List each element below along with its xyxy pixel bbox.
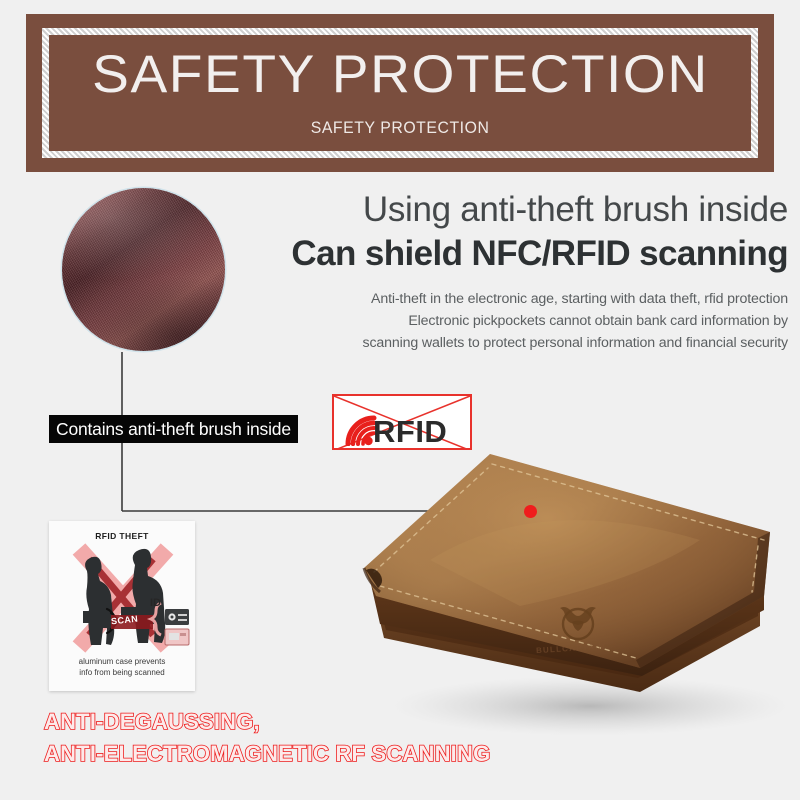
id-label: ID — [150, 597, 161, 609]
body-line-1: Anti-theft in the electronic age, starti… — [258, 288, 788, 310]
body-paragraph: Anti-theft in the electronic age, starti… — [258, 288, 788, 354]
claim-line-1: ANTI-DEGAUSSING, — [44, 706, 490, 738]
card-caption: aluminum case prevents info from being s… — [49, 657, 195, 679]
card-caption-line-2: info from being scanned — [79, 668, 164, 677]
bull-head-icon — [552, 598, 604, 644]
header-banner: SAFETY PROTECTION SAFETY PROTECTION — [26, 14, 774, 172]
rfid-theft-info-card: RFID THEFT — [49, 521, 195, 691]
body-line-2: Electronic pickpockets cannot obtain ban… — [258, 310, 788, 332]
page-title: SAFETY PROTECTION — [92, 48, 709, 101]
card-caption-line-1: aluminum case prevents — [79, 657, 166, 666]
bottom-claims-block: ANTI-DEGAUSSING, ANTI-ELECTROMAGNETIC RF… — [44, 706, 490, 770]
claim-line-2: ANTI-ELECTROMAGNETIC RF SCANNING — [44, 738, 490, 770]
headline-primary: Using anti-theft brush inside — [258, 190, 788, 230]
page-subtitle: SAFETY PROTECTION — [311, 118, 490, 138]
marketing-copy-block: Using anti-theft brush inside Can shield… — [258, 190, 788, 354]
body-line-3: scanning wallets to protect personal inf… — [258, 332, 788, 354]
header-inner-panel: SAFETY PROTECTION SAFETY PROTECTION — [49, 35, 751, 151]
rfid-shielding-hotspot-dot — [524, 505, 537, 518]
rfid-theft-illustration — [49, 537, 195, 657]
fabric-closeup-circle — [62, 188, 225, 351]
anti-theft-label-bar: Contains anti-theft brush inside — [49, 415, 298, 443]
headline-secondary: Can shield NFC/RFID scanning — [258, 233, 788, 275]
hatched-border-frame: SAFETY PROTECTION SAFETY PROTECTION — [42, 28, 758, 158]
wallet-illustration — [340, 420, 800, 750]
fabric-sheen-overlay — [62, 188, 225, 351]
wallet-product-photo: BULLCAPTAIN — [340, 420, 800, 750]
